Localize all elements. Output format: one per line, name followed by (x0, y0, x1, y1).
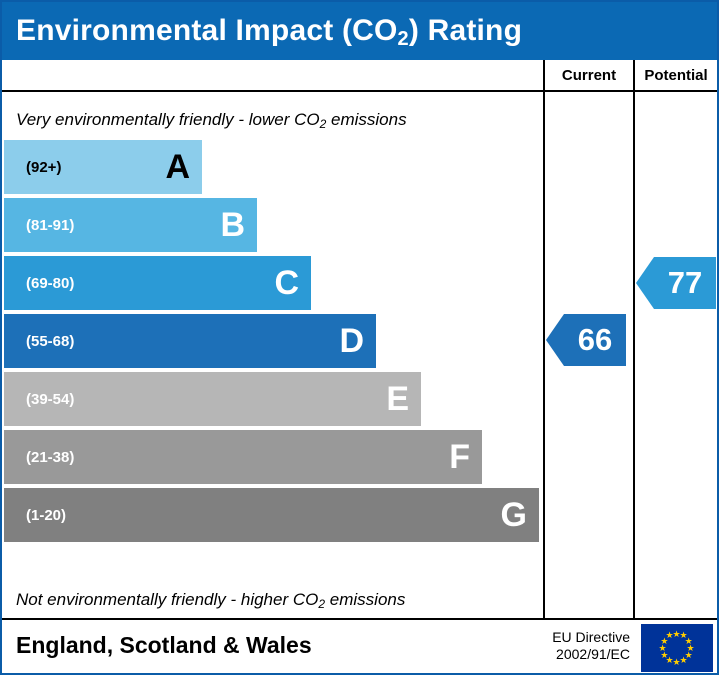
rating-bands: (92+) A (81-91) B (69-80) C (55-68) D (3… (4, 140, 541, 586)
band-b-range: (81-91) (4, 217, 74, 234)
chart-title-bar: Environmental Impact (CO2) Rating (2, 2, 717, 60)
eu-flag-star: ★ (666, 631, 674, 640)
footer-region-label: England, Scotland & Wales (16, 632, 312, 659)
band-g-letter: G (501, 498, 527, 532)
footer: England, Scotland & Wales EU Directive 2… (2, 620, 717, 673)
eu-flag-star: ★ (673, 658, 681, 667)
band-d-range: (55-68) (4, 333, 74, 350)
column-header-row: Current Potential (2, 60, 717, 92)
band-g-range: (1-20) (4, 507, 66, 524)
band-c-letter: C (274, 266, 299, 300)
current-rating-badge: 66 (564, 314, 626, 366)
eu-flag-icon: ★★★★★★★★★★★★ (641, 624, 713, 672)
band-e-letter: E (386, 382, 409, 416)
caption-bottom-suffix: emissions (325, 590, 405, 609)
caption-top-subscript: 2 (320, 117, 327, 131)
page-title-suffix: ) Rating (409, 14, 522, 47)
page-title-subscript: 2 (398, 28, 409, 50)
footer-directive: EU Directive 2002/91/EC (520, 629, 630, 663)
current-rating-value: 66 (578, 322, 612, 358)
caption-bottom-subscript: 2 (318, 597, 325, 611)
band-f: (21-38) F (4, 430, 482, 484)
footer-directive-line2: 2002/91/EC (520, 646, 630, 663)
band-a: (92+) A (4, 140, 202, 194)
caption-bottom: Not environmentally friendly - higher CO… (16, 590, 405, 610)
column-divider-left (543, 92, 545, 620)
column-divider-right (633, 92, 635, 620)
band-e: (39-54) E (4, 372, 421, 426)
caption-top: Very environmentally friendly - lower CO… (16, 110, 407, 130)
column-header-current: Current (543, 60, 633, 90)
band-f-range: (21-38) (4, 449, 74, 466)
caption-top-suffix: emissions (326, 110, 406, 129)
band-g: (1-20) G (4, 488, 539, 542)
band-b: (81-91) B (4, 198, 257, 252)
band-f-letter: F (449, 440, 470, 474)
current-badge-arrow-icon (546, 314, 564, 366)
page-title: Environmental Impact (CO2) Rating (16, 14, 522, 48)
band-e-range: (39-54) (4, 391, 74, 408)
eu-flag-star: ★ (680, 656, 688, 665)
band-a-letter: A (165, 150, 190, 184)
footer-directive-line1: EU Directive (520, 629, 630, 646)
page-title-prefix: Environmental Impact (CO (16, 14, 398, 47)
band-b-letter: B (220, 208, 245, 242)
caption-bottom-prefix: Not environmentally friendly - higher CO (16, 590, 318, 609)
band-c-range: (69-80) (4, 275, 74, 292)
band-d: (55-68) D (4, 314, 376, 368)
band-a-range: (92+) (4, 159, 61, 176)
potential-badge-arrow-icon (636, 257, 654, 309)
band-d-letter: D (339, 324, 364, 358)
epc-environmental-impact-chart: Environmental Impact (CO2) Rating Curren… (0, 0, 719, 675)
band-c: (69-80) C (4, 256, 311, 310)
caption-top-prefix: Very environmentally friendly - lower CO (16, 110, 320, 129)
potential-rating-badge: 77 (654, 257, 716, 309)
potential-rating-value: 77 (668, 265, 702, 301)
column-header-potential: Potential (633, 60, 717, 90)
